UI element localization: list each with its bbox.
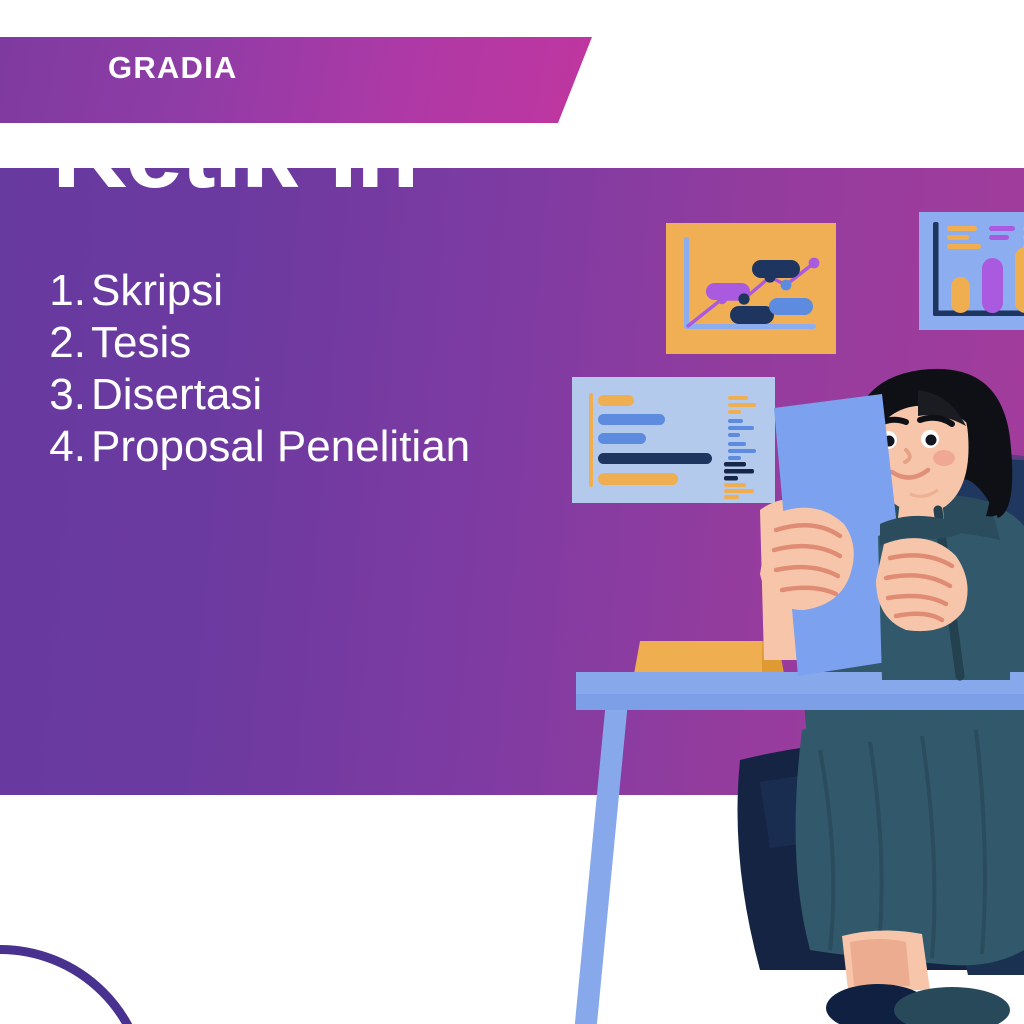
doc-text-group-1 [728,396,756,414]
data-point-1 [717,294,727,304]
caption-row-1c [947,244,981,249]
data-point-2 [738,293,749,304]
bar-2 [982,258,1003,313]
x-axis [933,311,1024,317]
doc-bar-2 [598,414,665,425]
caption-row-2a [989,226,1015,231]
list-item-label: Skripsi [91,265,223,317]
line-chart-svg [666,223,836,354]
y-axis [933,222,939,316]
list-item: 4. Proposal Penelitian [40,421,470,473]
list-item: 1. Skripsi [40,265,470,317]
caption-row-1b [947,235,969,240]
list-item-label: Disertasi [91,369,262,421]
desk-edge [576,694,1024,710]
woman-head-and-arms [760,360,1024,690]
list-item-label: Tesis [91,317,191,369]
data-point-5 [809,258,820,269]
pill-label-4 [769,298,813,315]
bar-chart-svg [919,212,1024,330]
poster-line-chart [666,223,836,354]
data-point-4 [781,280,792,291]
data-point-3 [764,271,775,282]
caption-row-1a [947,226,977,231]
list-item-number: 4. [40,421,86,473]
desk-leg [574,690,628,1024]
x-axis [684,324,816,329]
caption-row-2b [989,235,1009,240]
pill-label-2 [752,260,800,278]
doc-bar-3 [598,433,646,444]
y-axis [684,237,689,329]
list-item-number: 2. [40,317,86,369]
brand-banner [0,37,592,123]
pill-label-3 [730,306,774,324]
service-list: 1. Skripsi 2. Tesis 3. Disertasi 4. Prop… [40,265,470,473]
left-rule [589,393,593,487]
poster-canvas: GRADIA Ketik-In 1. Skripsi 2. Tesis 3. D… [0,0,1024,1024]
list-item: 3. Disertasi [40,369,470,421]
bar-3 [1015,247,1024,313]
list-item-number: 1. [40,265,86,317]
list-item: 2. Tesis [40,317,470,369]
list-item-number: 3. [40,369,86,421]
poster-bar-chart [919,212,1024,330]
list-item-label: Proposal Penelitian [91,421,470,473]
doc-bar-5 [598,473,678,485]
doc-bar-1 [598,395,634,406]
brand-label: GRADIA [108,50,237,86]
bar-1 [951,277,970,313]
